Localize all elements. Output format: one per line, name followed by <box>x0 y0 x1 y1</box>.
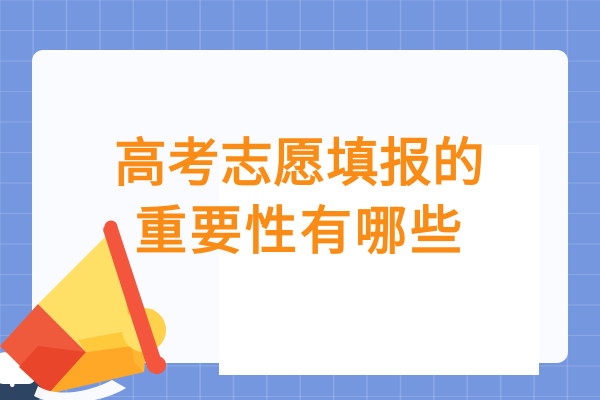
title-line-1: 高考志愿填报的 <box>32 130 568 198</box>
screenshot-canvas: 高考志愿填报的 重要性有哪些 <box>0 0 600 400</box>
title-line-2: 重要性有哪些 <box>32 198 568 266</box>
page-title: 高考志愿填报的 重要性有哪些 <box>32 130 568 266</box>
